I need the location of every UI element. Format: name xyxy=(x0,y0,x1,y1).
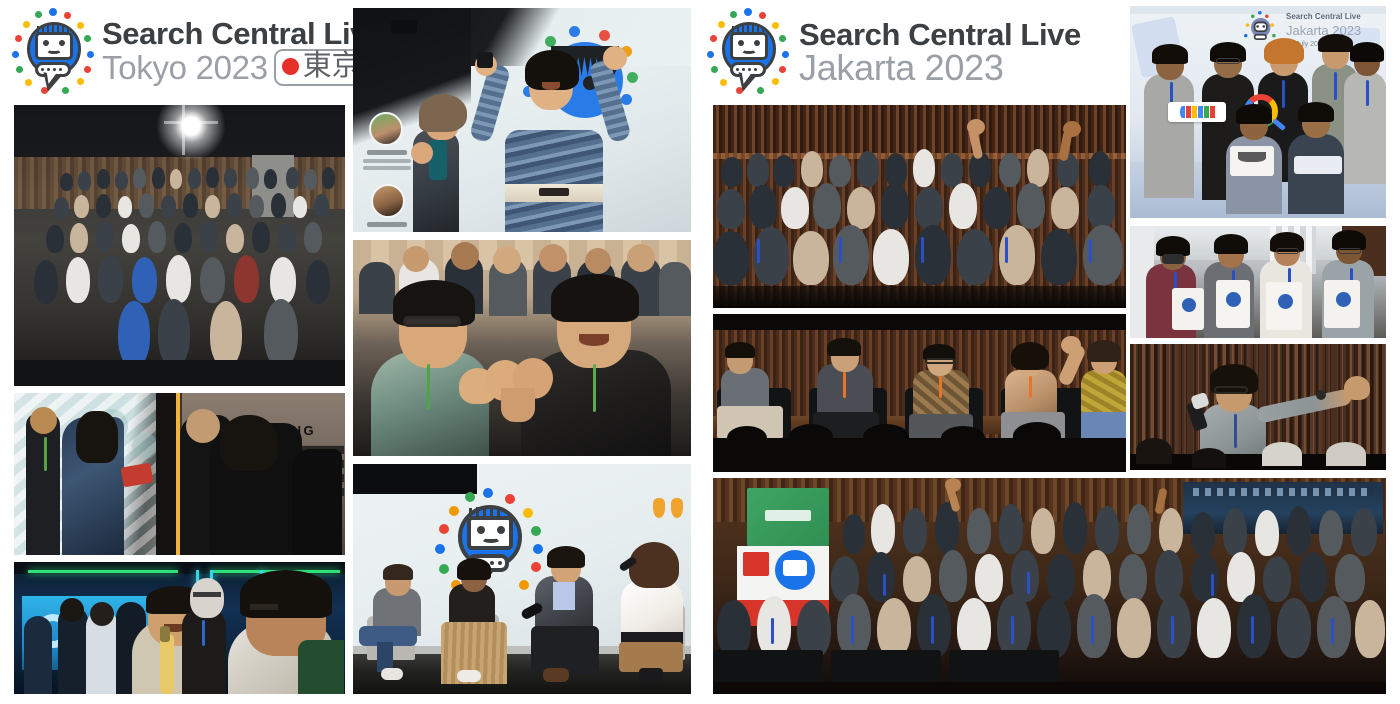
tokyo-logo-lockup: Search Central Live Tokyo 2023 東京 xyxy=(10,8,384,96)
photo-wall-group-photo[interactable]: Search Central Live Jakarta 2023 12 July… xyxy=(1130,6,1386,218)
panel-discussion-photo[interactable]: Four-person panel seated on stage, a wom… xyxy=(353,464,691,694)
tokyo-subtitle-row: Tokyo 2023 東京 xyxy=(102,49,384,85)
audience-question-photo[interactable]: Attendee standing with a microphone aski… xyxy=(1130,344,1386,470)
crowd-figures xyxy=(14,105,345,386)
jakarta-logo-lockup: Search Central Live Jakarta 2023 xyxy=(705,8,1081,96)
audience-waving-photo[interactable]: Packed auditorium audience waving and sm… xyxy=(713,105,1126,308)
full-audience-group-photo[interactable]: Full event group photo with hundreds of … xyxy=(713,478,1386,694)
jakarta-title: Search Central Live xyxy=(799,19,1081,50)
audience-group-photo[interactable]: Large seated audience in a conference ha… xyxy=(14,105,345,386)
japan-flag-dot-icon xyxy=(282,58,299,75)
backdrop-title: Search Central Live xyxy=(1286,12,1361,21)
collage-canvas: Search Central Live Tokyo 2023 東京 xyxy=(0,0,1400,704)
panel-discussion-photo[interactable]: Five panelists seated in black armchairs… xyxy=(713,314,1126,472)
tokyo-badge-text: 東京 xyxy=(303,51,360,81)
swag-bag-attendees-photo[interactable]: Four attendees holding up white Search C… xyxy=(1130,226,1386,338)
googlebot-mascot-icon xyxy=(10,8,94,96)
googlebot-mascot-icon xyxy=(705,8,789,96)
jakarta-subtitle: Jakarta 2023 xyxy=(799,50,1081,86)
attendees-heart-hands-photo[interactable]: Two attendees in the audience forming a … xyxy=(353,240,691,456)
tokyo-title: Search Central Live xyxy=(102,18,384,49)
networking-reception-photo[interactable]: Attendees laughing with drinks at an eve… xyxy=(14,562,345,694)
tokyo-subtitle: Tokyo 2023 xyxy=(102,51,268,84)
charging-station-photo[interactable]: CHARGING STATION Attendees exchanging a … xyxy=(14,393,345,555)
stage-speaker-yukata-photo[interactable]: Speaker in a blue yukata raising both ar… xyxy=(353,8,691,232)
